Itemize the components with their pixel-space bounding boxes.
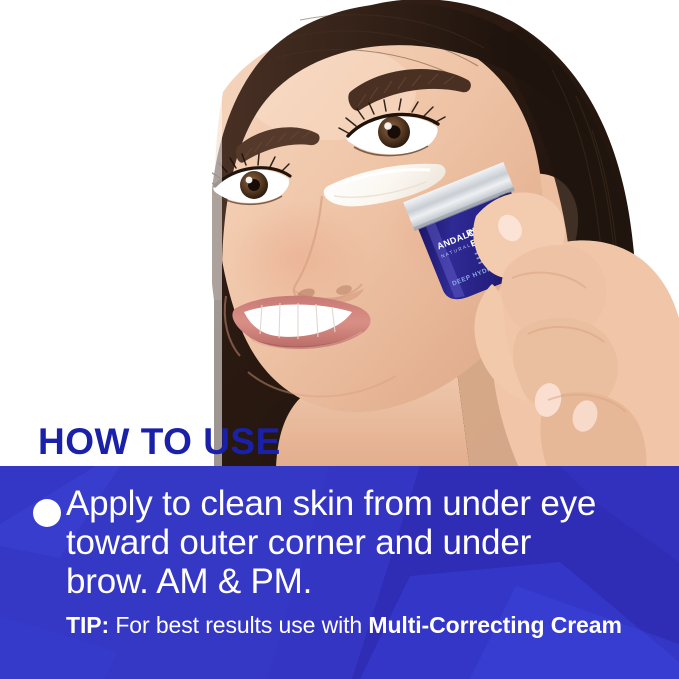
tip-label: TIP: <box>66 612 115 638</box>
product-lifestyle-photo: ANDALOU NATURALS REVIVING EYE CREAM DEEP… <box>0 0 679 470</box>
instruction-line-1: Apply to clean skin from under eye <box>66 484 666 523</box>
instruction-line-3: brow. AM & PM. <box>66 562 666 601</box>
tip-product-name: Multi-Correcting Cream <box>368 612 621 638</box>
bullet-point-icon <box>33 499 61 527</box>
instruction-line-2: toward outer corner and under <box>66 523 666 562</box>
how-to-use-band: Apply to clean skin from under eye towar… <box>0 466 679 679</box>
instruction-text: Apply to clean skin from under eye towar… <box>66 484 666 601</box>
page-title: HOW TO USE <box>38 423 281 460</box>
tip-body: For best results use with <box>115 612 368 638</box>
photo-illustration: ANDALOU NATURALS REVIVING EYE CREAM DEEP… <box>0 0 679 470</box>
promo-image: ANDALOU NATURALS REVIVING EYE CREAM DEEP… <box>0 0 679 679</box>
tip-line: TIP: For best results use with Multi-Cor… <box>66 612 622 639</box>
